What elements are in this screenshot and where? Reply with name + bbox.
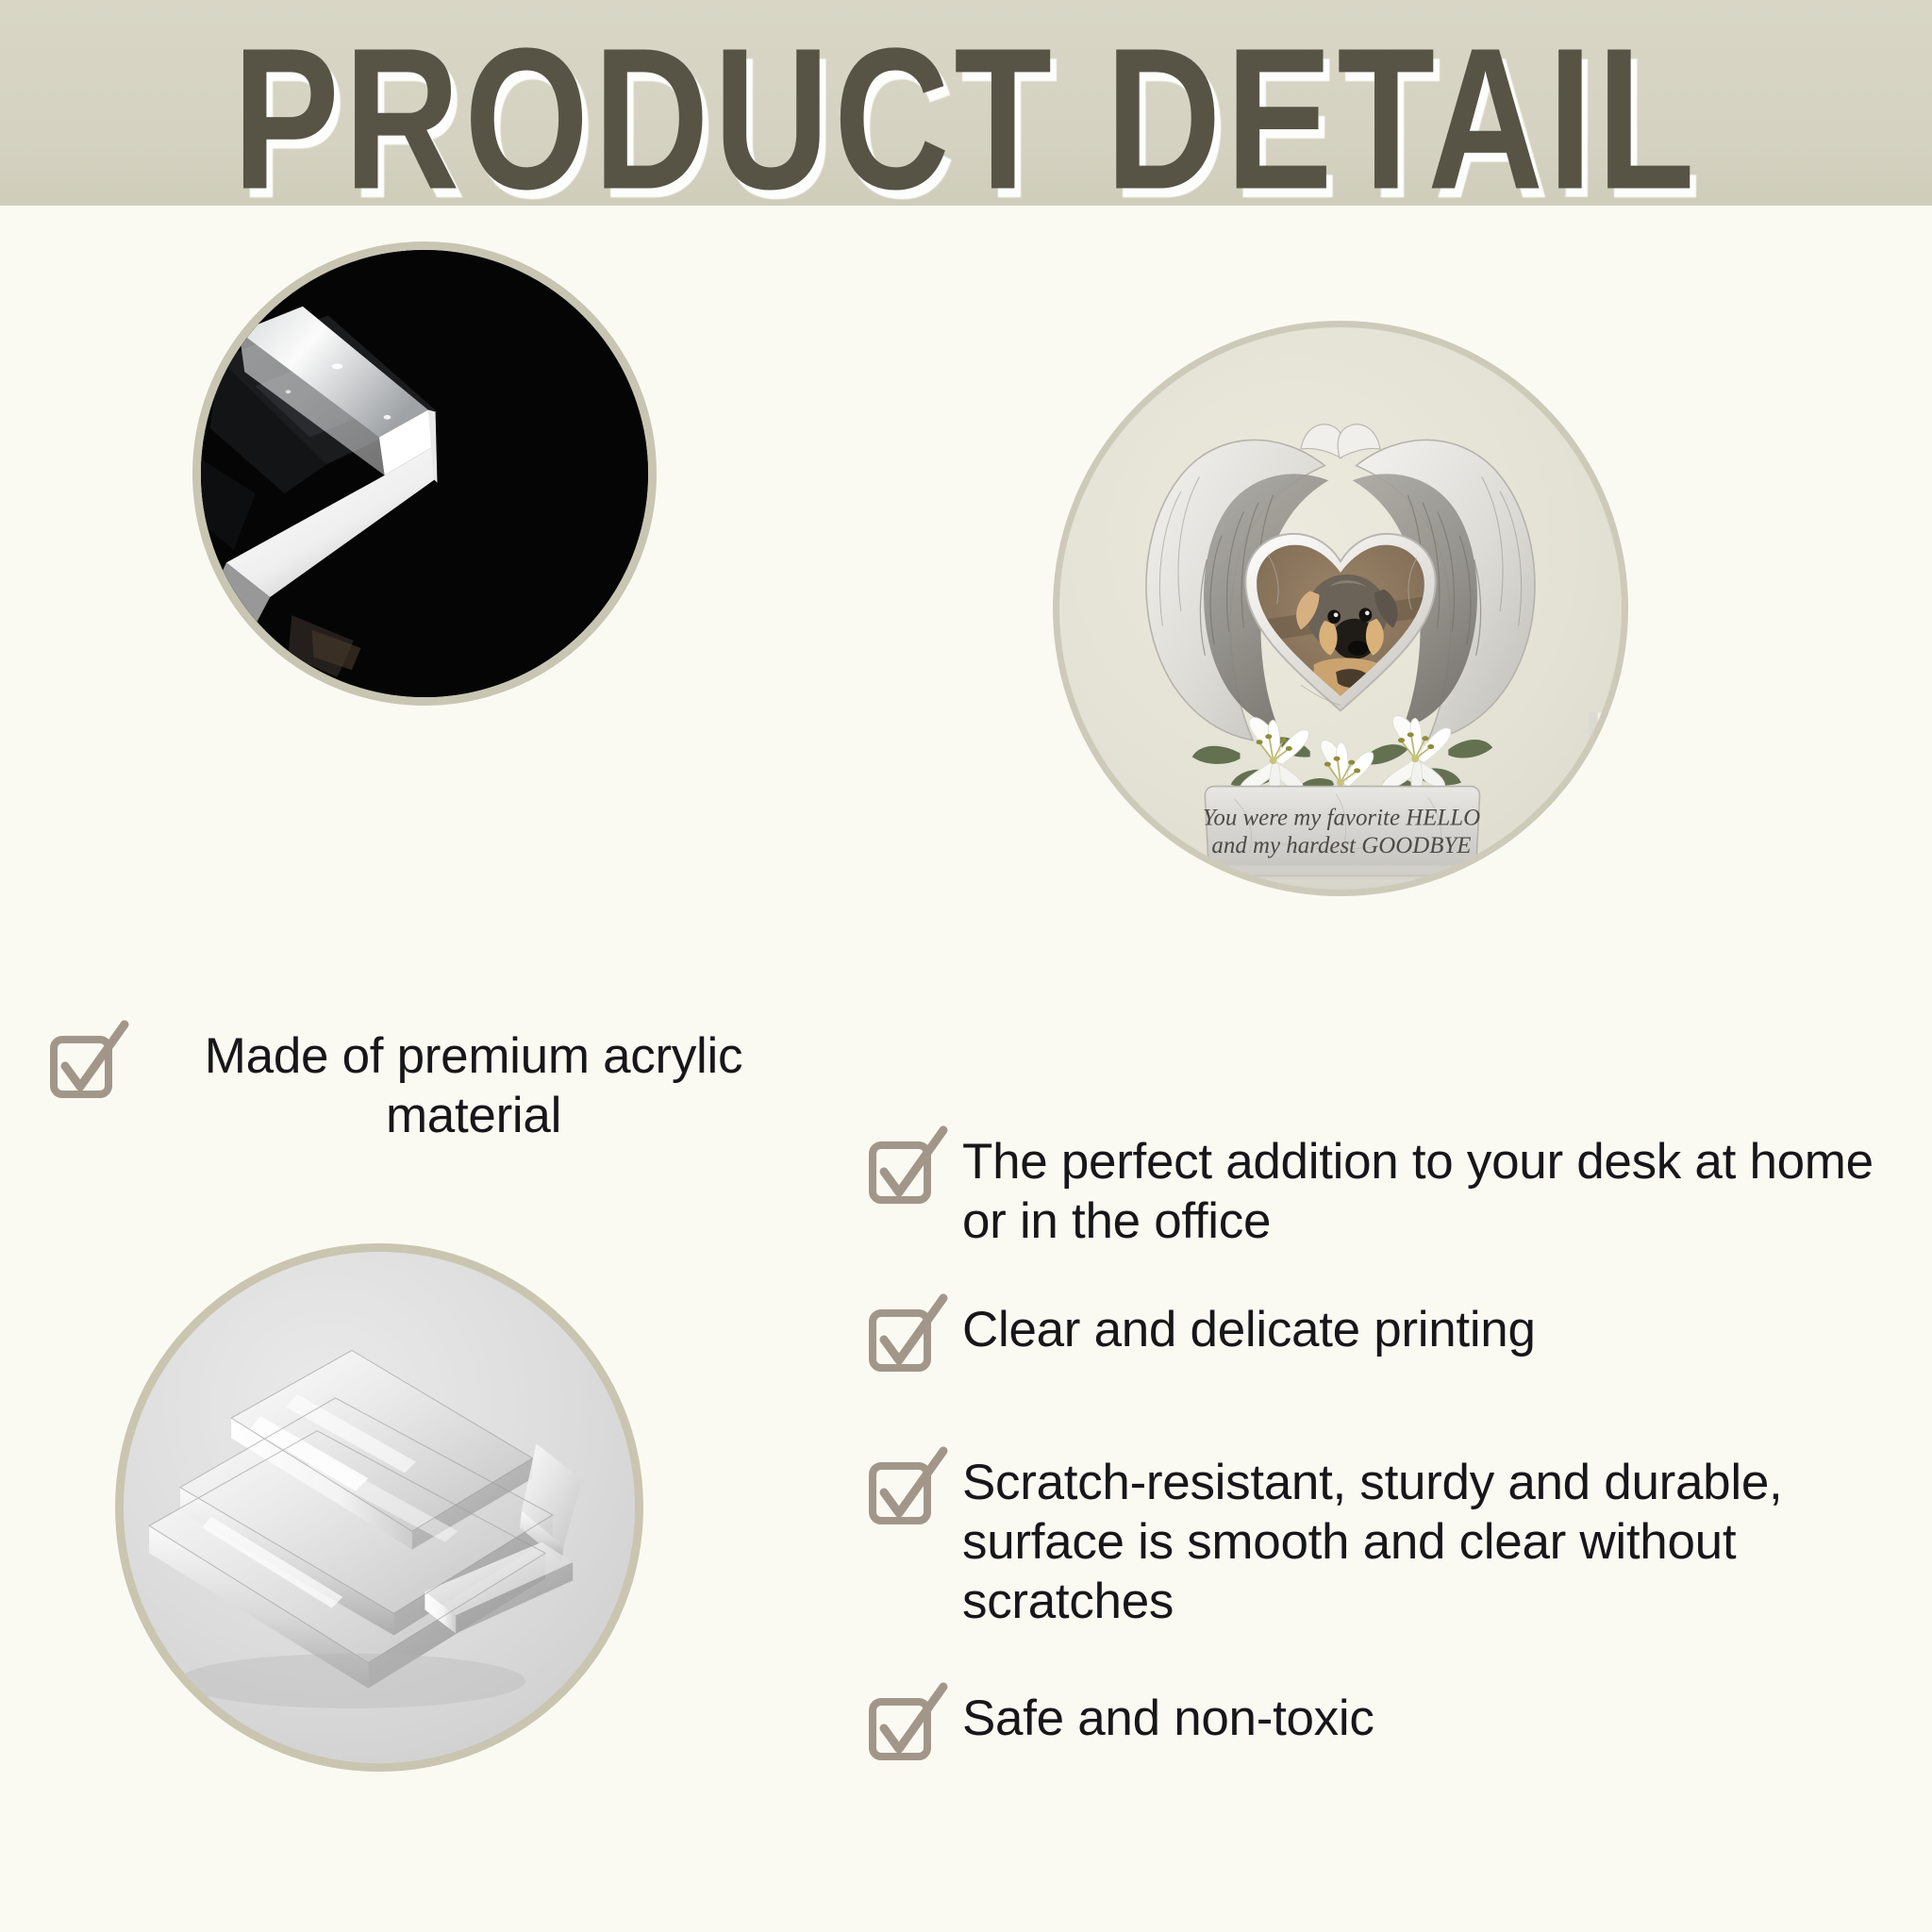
checkmark-icon [868, 1138, 938, 1207]
checkmark-icon [49, 1032, 119, 1102]
product-photo-memorial-plaque: You were my favorite HELLO and my hardes… [1053, 321, 1628, 896]
feature-label: Made of premium acrylic material [143, 1026, 804, 1145]
thickness-detail-photo: Thickness 0.55 in [192, 241, 657, 706]
engraved-line-2: and my hardest GOODBYE [1211, 833, 1471, 858]
checkmark-icon [868, 1694, 938, 1764]
acrylic-sheets-illustration [124, 1252, 635, 1763]
checkmark-icon [868, 1458, 938, 1528]
feature-label: Clear and delicate printing [962, 1300, 1536, 1359]
acrylic-edge-illustration [201, 250, 648, 697]
feature-item-scratch: Scratch-resistant, sturdy and durable, s… [868, 1453, 1915, 1631]
checkmark-icon [868, 1306, 938, 1375]
acrylic-sheets-photo [115, 1243, 643, 1772]
memorial-plaque-illustration: You were my favorite HELLO and my hardes… [1059, 327, 1622, 890]
feature-label: Scratch-resistant, sturdy and durable, s… [962, 1453, 1915, 1631]
feature-item-material: Made of premium acrylic material [49, 1026, 898, 1145]
header-band: PRODUCT DETAIL [0, 0, 1932, 206]
feature-label: Safe and non-toxic [962, 1689, 1374, 1748]
feature-item-safe: Safe and non-toxic [868, 1689, 1915, 1764]
feature-label: The perfect addition to your desk at hom… [962, 1132, 1915, 1251]
engraved-line-1: You were my favorite HELLO [1203, 806, 1480, 831]
feature-item-printing: Clear and delicate printing [868, 1300, 1915, 1375]
feature-item-desk: The perfect addition to your desk at hom… [868, 1132, 1915, 1251]
page-title: PRODUCT DETAIL [29, 13, 1904, 206]
